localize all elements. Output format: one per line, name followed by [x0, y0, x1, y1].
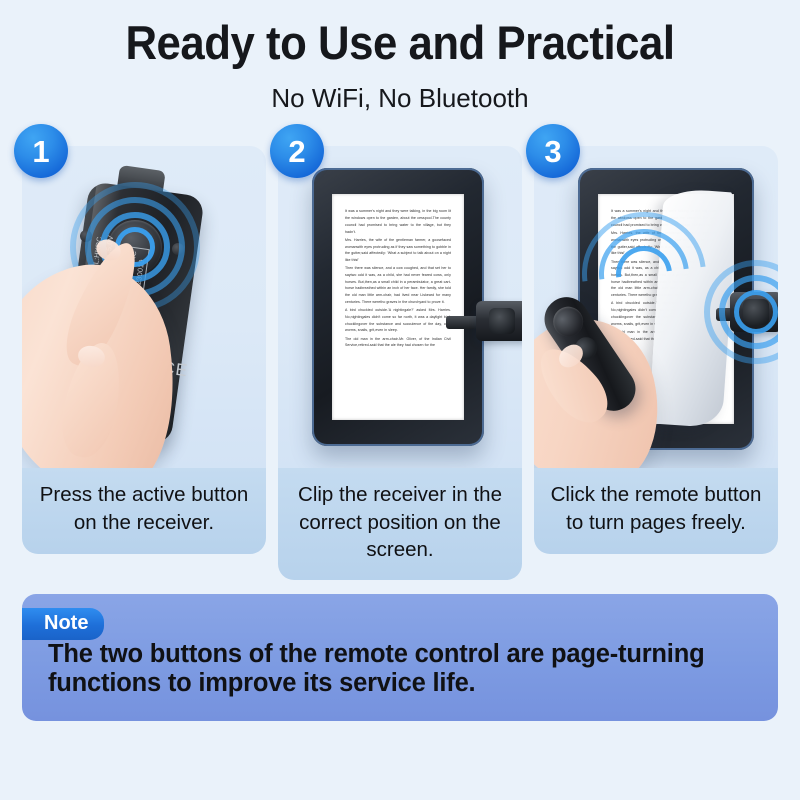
note-text: The two buttons of the remote control ar… [48, 640, 752, 699]
receiver-sensor [489, 308, 515, 334]
page-title: Ready to Use and Practical [28, 18, 772, 68]
receiver-clip-body [730, 292, 778, 332]
page-paragraph: It was a summer's night and they were ta… [345, 208, 451, 235]
step-illustration-1: MODEL:HKRC INPUT: DC5.0V MAX220mA NO. HK… [22, 146, 266, 468]
scene-clip-receiver: It was a summer's night and they were ta… [278, 146, 522, 468]
receiver-sensor [743, 299, 769, 325]
page-subtitle: No WiFi, No Bluetooth [0, 84, 800, 113]
step-illustration-2: It was a summer's night and they were ta… [278, 146, 522, 468]
scene-press-receiver: MODEL:HKRC INPUT: DC5.0V MAX220mA NO. HK… [22, 146, 266, 468]
receiver-clip-body [476, 301, 522, 341]
page-paragraph: A bird chuckled outside.'A nightingale?'… [345, 307, 451, 334]
steps-row: 1 MODEL:HKRC INPUT: DC5.0V MAX220mA NO. … [0, 112, 800, 579]
ereader-page-text: It was a summer's night and they were ta… [345, 208, 451, 349]
step-card-3: 3 It was a summer's night and they were … [534, 146, 778, 579]
page-paragraph: The old man in the arm-chair-Mr. Oliver,… [345, 336, 451, 349]
note-box: Note The two buttons of the remote contr… [22, 594, 778, 721]
step-caption-3: Click the remote button to turn pages fr… [534, 468, 778, 554]
step-caption-1: Press the active button on the receiver. [22, 468, 266, 554]
step-card-1: 1 MODEL:HKRC INPUT: DC5.0V MAX220mA NO. … [22, 146, 266, 579]
scene-click-remote: It was a summer's night and they were ta… [534, 146, 778, 468]
note-section: Note The two buttons of the remote contr… [0, 580, 800, 721]
header: Ready to Use and Practical No WiFi, No B… [0, 0, 800, 112]
step-illustration-3: It was a summer's night and they were ta… [534, 146, 778, 468]
step-card-2: 2 It was a summer's night and they were … [278, 146, 522, 579]
note-badge: Note [22, 608, 104, 640]
step-caption-2: Clip the receiver in the correct positio… [278, 468, 522, 579]
page-paragraph: Mrs. Harries, the wife of the gentleman … [345, 237, 451, 264]
ereader-device: It was a summer's night and they were ta… [312, 168, 484, 446]
page-paragraph: Then there was silence, and a cow coughe… [345, 265, 451, 305]
ereader-screen: It was a summer's night and they were ta… [332, 194, 464, 420]
